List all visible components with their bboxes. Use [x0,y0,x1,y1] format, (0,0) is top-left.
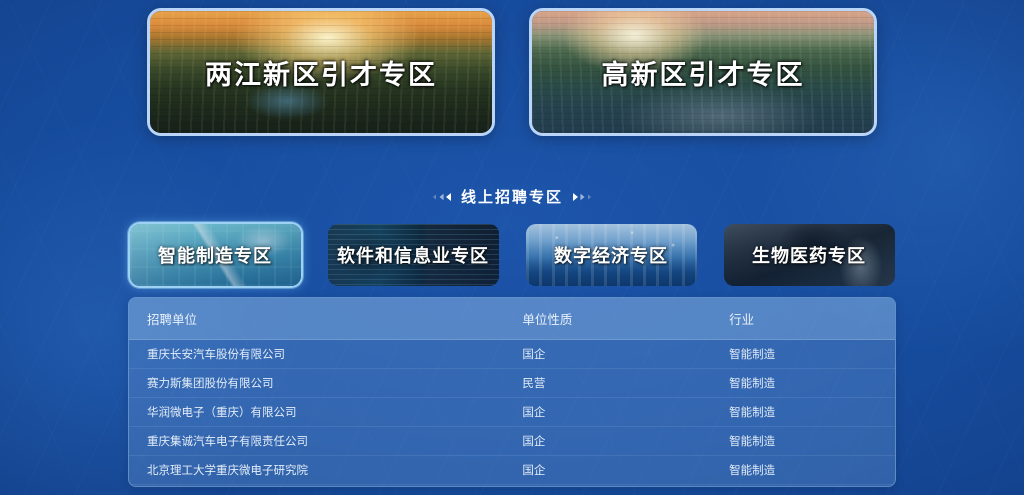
triangle-right-icon [580,193,584,200]
banner-title: 两江新区引才专区 [150,11,492,133]
cell-industry: 智能制造 [711,485,895,488]
triangle-right-icon [588,194,591,199]
table-body: 重庆长安汽车股份有限公司国企智能制造赛力斯集团股份有限公司民营智能制造华润微电子… [129,340,895,488]
cell-recruiting-unit: 北京理工大学重庆微电子研究院 [129,456,504,485]
cell-recruiting-unit: 重庆川仪自动化股份有限公司执行器分公司 [129,485,504,488]
section-title-right-arrows [573,193,592,201]
category-card-row: 智能制造专区软件和信息业专区数字经济专区生物医药专区 [0,222,1024,288]
cell-unit-nature: 国企 [504,427,711,456]
triangle-left-icon [446,193,451,201]
table-header: 招聘单位单位性质行业 [129,298,895,340]
section-title: 线上招聘专区 [0,186,1024,207]
cell-industry: 智能制造 [711,369,895,398]
table-row[interactable]: 赛力斯集团股份有限公司民营智能制造 [129,369,895,398]
table-row[interactable]: 重庆川仪自动化股份有限公司执行器分公司国企智能制造 [129,485,895,488]
banner-liangjiang[interactable]: 两江新区引才专区 [147,8,495,136]
category-card-digital-economy[interactable]: 数字经济专区 [524,222,699,288]
table-row[interactable]: 北京理工大学重庆微电子研究院国企智能制造 [129,456,895,485]
cell-unit-nature: 国企 [504,398,711,427]
table-column-header: 单位性质 [504,298,711,340]
cell-unit-nature: 国企 [504,485,711,488]
category-card-label: 数字经济专区 [526,224,697,286]
cell-recruiting-unit: 华润微电子（重庆）有限公司 [129,398,504,427]
table-row[interactable]: 华润微电子（重庆）有限公司国企智能制造 [129,398,895,427]
table-row[interactable]: 重庆集诚汽车电子有限责任公司国企智能制造 [129,427,895,456]
triangle-left-icon [439,193,443,200]
cell-recruiting-unit: 重庆长安汽车股份有限公司 [129,340,504,369]
cell-industry: 智能制造 [711,456,895,485]
cell-industry: 智能制造 [711,427,895,456]
cell-recruiting-unit: 重庆集诚汽车电子有限责任公司 [129,427,504,456]
section-title-label: 线上招聘专区 [461,186,563,207]
category-card-software-it[interactable]: 软件和信息业专区 [326,222,501,288]
table-row[interactable]: 重庆长安汽车股份有限公司国企智能制造 [129,340,895,369]
recruitment-table-panel: 招聘单位单位性质行业 重庆长安汽车股份有限公司国企智能制造赛力斯集团股份有限公司… [128,297,896,487]
cell-unit-nature: 国企 [504,340,711,369]
banner-title: 高新区引才专区 [532,11,874,133]
cell-unit-nature: 国企 [504,456,711,485]
table-header-row: 招聘单位单位性质行业 [129,298,895,340]
recruitment-table: 招聘单位单位性质行业 重庆长安汽车股份有限公司国企智能制造赛力斯集团股份有限公司… [129,298,895,487]
category-card-label: 软件和信息业专区 [328,224,499,286]
table-column-header: 行业 [711,298,895,340]
cell-unit-nature: 民营 [504,369,711,398]
category-card-smart-manufacturing[interactable]: 智能制造专区 [128,222,303,288]
category-card-label: 智能制造专区 [130,224,301,286]
cell-industry: 智能制造 [711,340,895,369]
banner-gaoxin[interactable]: 高新区引才专区 [529,8,877,136]
cell-industry: 智能制造 [711,398,895,427]
cell-recruiting-unit: 赛力斯集团股份有限公司 [129,369,504,398]
category-card-label: 生物医药专区 [724,224,895,286]
section-title-left-arrows [432,193,451,201]
triangle-left-icon [433,194,436,199]
category-card-biomedicine[interactable]: 生物医药专区 [722,222,897,288]
triangle-right-icon [573,193,578,201]
banner-row: 两江新区引才专区高新区引才专区 [0,8,1024,136]
table-column-header: 招聘单位 [129,298,504,340]
